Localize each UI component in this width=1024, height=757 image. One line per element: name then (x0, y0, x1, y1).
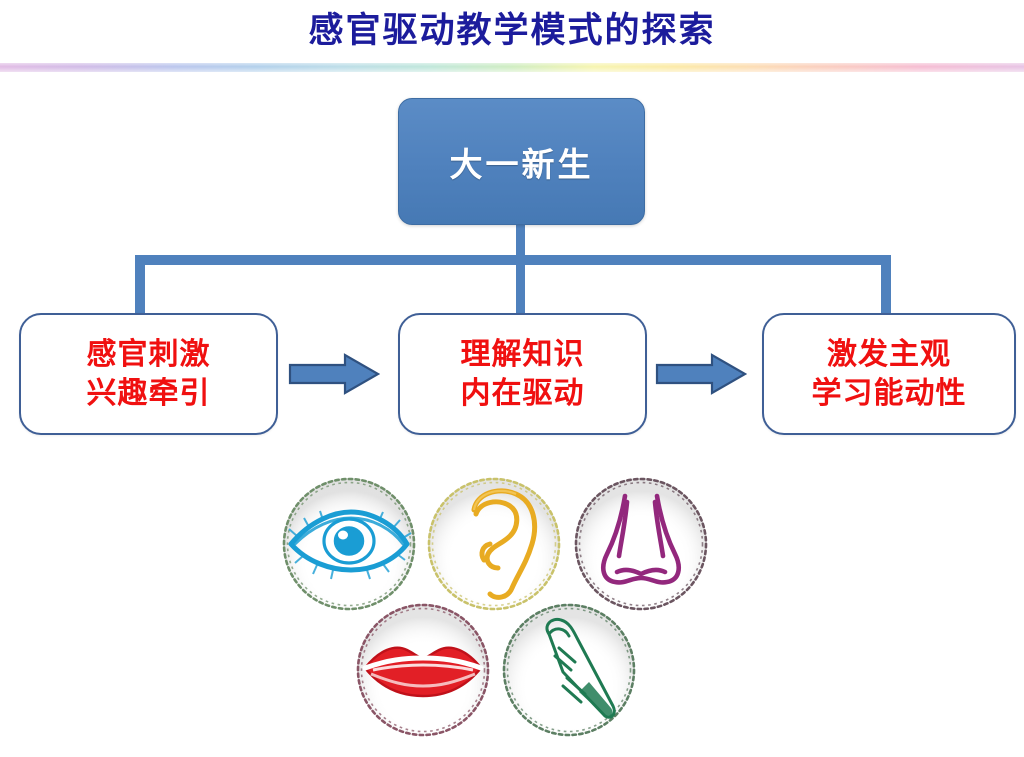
sense-item-touch (493, 594, 645, 746)
diagram-node-knowledge-understanding[interactable]: 理解知识 内在驱动 (398, 313, 647, 435)
connector-drop-center (516, 255, 525, 317)
connector-drop-left (135, 255, 145, 317)
slide-canvas: 感官驱动教学模式的探索 大一新生 感官刺激 兴趣牵引 理解知识 内在驱动 激发主… (0, 0, 1024, 757)
mouth-icon (347, 594, 499, 746)
page-title: 感官驱动教学模式的探索 (0, 8, 1024, 54)
diagram-node-sensory-stimulation[interactable]: 感官刺激 兴趣牵引 (19, 313, 278, 435)
flow-arrow-2 (655, 352, 747, 396)
node-line-2: 兴趣牵引 (87, 374, 211, 413)
diagram-node-root[interactable]: 大一新生 (398, 98, 645, 225)
node-line-2: 学习能动性 (812, 374, 967, 413)
diagram-node-root-label: 大一新生 (450, 138, 594, 186)
sense-item-taste (347, 594, 499, 746)
node-line-1: 感官刺激 (87, 335, 211, 374)
flow-arrow-1 (288, 352, 380, 396)
node-line-1: 理解知识 (461, 335, 585, 374)
node-line-1: 激发主观 (827, 335, 951, 374)
connector-drop-right (881, 255, 891, 317)
connector-horizontal (135, 255, 891, 265)
diagram-node-learning-initiative[interactable]: 激发主观 学习能动性 (762, 313, 1016, 435)
finger-icon (493, 594, 645, 746)
arrow-right-icon (288, 352, 380, 396)
node-line-2: 内在驱动 (461, 374, 585, 413)
sense-icon-cluster: 禁止商用图片素材 (255, 462, 765, 752)
arrow-right-icon (655, 352, 747, 396)
rainbow-divider (0, 63, 1024, 72)
